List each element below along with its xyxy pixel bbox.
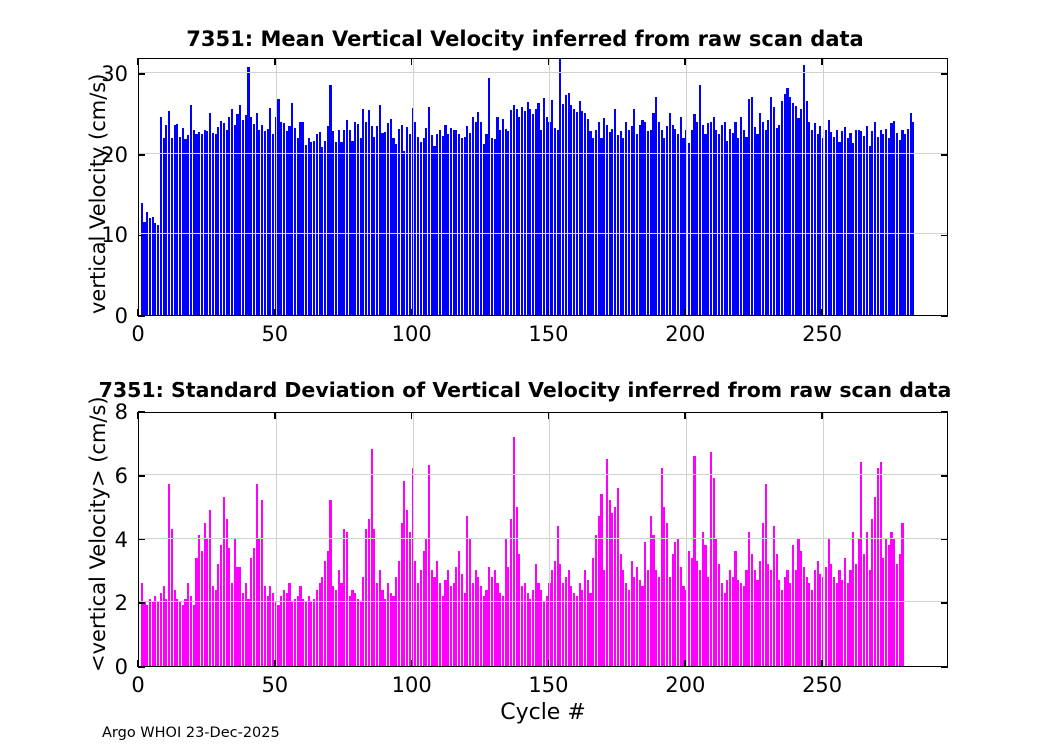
- y-tick-mark: [941, 315, 948, 317]
- y-tick-label: 30: [68, 62, 128, 86]
- matlab-figure: 7351: Mean Vertical Velocity inferred fr…: [0, 0, 1050, 750]
- x-tick-mark: [821, 412, 823, 419]
- y-tick-label: 6: [68, 464, 128, 488]
- gridline-vertical: [413, 59, 414, 315]
- y-tick-mark: [138, 154, 145, 156]
- y-tick-label: 2: [68, 591, 128, 615]
- y-tick-label: 10: [68, 223, 128, 247]
- gridline-vertical: [413, 413, 414, 666]
- x-tick-label: 0: [98, 673, 178, 697]
- y-tick-mark: [941, 539, 948, 541]
- x-tick-label: 200: [645, 322, 725, 346]
- y-tick-mark: [941, 602, 948, 604]
- bar-series-mean: [139, 59, 947, 315]
- x-tick-label: 100: [372, 673, 452, 697]
- x-tick-mark: [274, 58, 276, 65]
- gridline-vertical: [276, 59, 277, 315]
- gridline-vertical: [823, 59, 824, 315]
- mean-velocity-axes: [138, 58, 948, 316]
- x-tick-mark: [548, 309, 550, 316]
- x-tick-label: 150: [508, 673, 588, 697]
- x-tick-mark: [684, 309, 686, 316]
- gridline-vertical: [823, 413, 824, 666]
- x-tick-label: 50: [235, 673, 315, 697]
- bar: [912, 122, 914, 315]
- gridline-horizontal: [139, 72, 947, 73]
- gridline-horizontal: [139, 153, 947, 154]
- y-tick-label: 4: [68, 528, 128, 552]
- x-tick-mark: [411, 309, 413, 316]
- x-tick-label: 0: [98, 322, 178, 346]
- y-tick-mark: [138, 411, 145, 413]
- y-tick-mark: [138, 73, 145, 75]
- x-tick-mark: [137, 58, 139, 65]
- gridline-horizontal: [139, 601, 947, 602]
- x-tick-label: 200: [645, 673, 725, 697]
- x-tick-mark: [684, 58, 686, 65]
- x-tick-mark: [684, 412, 686, 419]
- y-tick-mark: [138, 475, 145, 477]
- y-tick-mark: [138, 539, 145, 541]
- y-tick-mark: [941, 154, 948, 156]
- bar: [901, 523, 903, 666]
- gridline-vertical: [686, 413, 687, 666]
- x-tick-label: 150: [508, 322, 588, 346]
- x-tick-mark: [411, 660, 413, 667]
- gridline-vertical: [686, 59, 687, 315]
- gridline-vertical: [276, 413, 277, 666]
- x-tick-mark: [274, 412, 276, 419]
- x-tick-mark: [411, 412, 413, 419]
- y-tick-label: 20: [68, 143, 128, 167]
- y-tick-mark: [941, 235, 948, 237]
- y-tick-label: 8: [68, 400, 128, 424]
- y-tick-mark: [941, 411, 948, 413]
- x-tick-mark: [821, 58, 823, 65]
- x-tick-mark: [821, 660, 823, 667]
- x-tick-mark: [137, 309, 139, 316]
- x-tick-mark: [548, 58, 550, 65]
- y-tick-mark: [138, 666, 145, 668]
- x-tick-mark: [137, 412, 139, 419]
- x-tick-label: 250: [782, 322, 862, 346]
- x-tick-mark: [821, 309, 823, 316]
- gridline-horizontal: [139, 538, 947, 539]
- gridline-horizontal: [139, 233, 947, 234]
- chart-title-mean: 7351: Mean Vertical Velocity inferred fr…: [0, 27, 1050, 51]
- x-tick-mark: [411, 58, 413, 65]
- x-axis-label: Cycle #: [138, 700, 948, 725]
- bar-series-std: [139, 413, 947, 666]
- x-tick-mark: [274, 309, 276, 316]
- y-axis-label-mean: vertical Velocity (cm/s): [86, 74, 110, 314]
- gridline-horizontal: [139, 474, 947, 475]
- y-tick-mark: [138, 602, 145, 604]
- x-tick-mark: [548, 412, 550, 419]
- gridline-vertical: [549, 59, 550, 315]
- x-tick-label: 100: [372, 322, 452, 346]
- x-tick-label: 250: [782, 673, 862, 697]
- y-tick-mark: [941, 475, 948, 477]
- gridline-vertical: [549, 413, 550, 666]
- std-velocity-axes: [138, 412, 948, 667]
- x-tick-mark: [684, 660, 686, 667]
- y-tick-mark: [941, 73, 948, 75]
- x-tick-mark: [274, 660, 276, 667]
- y-tick-mark: [138, 315, 145, 317]
- x-tick-mark: [548, 660, 550, 667]
- figure-footer: Argo WHOI 23-Dec-2025: [102, 725, 280, 741]
- y-tick-mark: [941, 666, 948, 668]
- y-tick-mark: [138, 235, 145, 237]
- chart-title-std: 7351: Standard Deviation of Vertical Vel…: [0, 378, 1050, 402]
- x-tick-label: 50: [235, 322, 315, 346]
- x-tick-mark: [137, 660, 139, 667]
